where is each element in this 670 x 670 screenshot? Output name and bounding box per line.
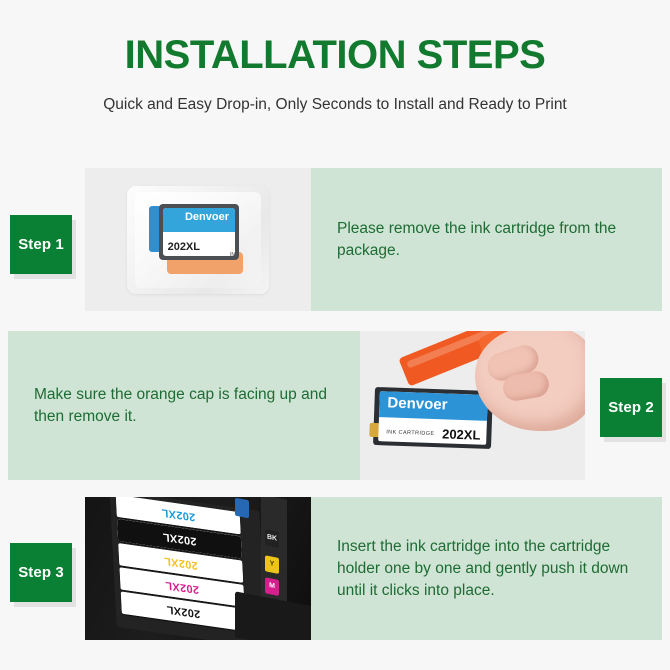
cartridge-graphic: 202XL INK CARTRIDGE Denvoer bbox=[373, 387, 493, 449]
cartridge-label: 202XL INK CARTRIDGE Denvoer bbox=[378, 391, 488, 445]
step-3-badge[interactable]: Step 3 bbox=[10, 543, 72, 602]
step-2-text-panel: Make sure the orange cap is facing up an… bbox=[8, 331, 360, 480]
step-1-illustration: INK CARTRIDGE 202XL Denvoer bbox=[85, 168, 311, 311]
step-1-text-panel: Please remove the ink cartridge from the… bbox=[311, 168, 662, 311]
step-3-badge-label: Step 3 bbox=[18, 564, 64, 581]
rail-mark-bk: BK bbox=[265, 529, 279, 548]
step-row-1: INK CARTRIDGE 202XL Denvoer Please remov… bbox=[85, 168, 662, 311]
cartridge-label-line: INK CARTRIDGE bbox=[230, 252, 235, 256]
step-1-image-panel: INK CARTRIDGE 202XL Denvoer bbox=[85, 168, 311, 311]
step-2-image-panel: 202XL INK CARTRIDGE Denvoer bbox=[360, 331, 585, 480]
rail-mark-m: M bbox=[265, 577, 279, 596]
step-3-description: Insert the ink cartridge into the cartri… bbox=[311, 536, 662, 602]
step-2-description: Make sure the orange cap is facing up an… bbox=[8, 384, 360, 428]
page-title: INSTALLATION STEPS bbox=[0, 0, 670, 78]
step-2-illustration: 202XL INK CARTRIDGE Denvoer bbox=[360, 331, 585, 480]
page-subtitle: Quick and Easy Drop-in, Only Seconds to … bbox=[0, 78, 670, 115]
carriage-latch-icon bbox=[235, 498, 249, 519]
installation-steps-page: INSTALLATION STEPS Quick and Easy Drop-i… bbox=[0, 0, 670, 670]
step-3-illustration: 202XL 202XL 202XL 202XL bbox=[85, 497, 311, 640]
cartridge-model: 202XL bbox=[442, 426, 481, 442]
step-1-badge[interactable]: Step 1 bbox=[10, 215, 72, 274]
step-2-badge[interactable]: Step 2 bbox=[600, 378, 662, 437]
step-3-image-panel: 202XL 202XL 202XL 202XL bbox=[85, 497, 311, 640]
cartridge-label: INK CARTRIDGE 202XL Denvoer bbox=[163, 208, 235, 256]
step-row-2: Make sure the orange cap is facing up an… bbox=[8, 331, 585, 480]
cartridge-model: 202XL bbox=[168, 241, 200, 253]
cartridge-graphic: INK CARTRIDGE 202XL Denvoer bbox=[155, 202, 243, 274]
cartridge-label-line: INK CARTRIDGE bbox=[386, 429, 434, 437]
cartridge-brand: Denvoer bbox=[387, 394, 448, 413]
rail-mark-y: Y bbox=[265, 555, 279, 574]
printer-tray bbox=[235, 591, 311, 640]
cartridge-brand: Denvoer bbox=[185, 211, 229, 223]
header: INSTALLATION STEPS Quick and Easy Drop-i… bbox=[0, 0, 670, 115]
step-2-badge-label: Step 2 bbox=[608, 399, 654, 416]
step-row-3: 202XL 202XL 202XL 202XL bbox=[85, 497, 662, 640]
step-1-badge-label: Step 1 bbox=[18, 236, 64, 253]
step-3-text-panel: Insert the ink cartridge into the cartri… bbox=[311, 497, 662, 640]
step-1-description: Please remove the ink cartridge from the… bbox=[311, 218, 662, 262]
